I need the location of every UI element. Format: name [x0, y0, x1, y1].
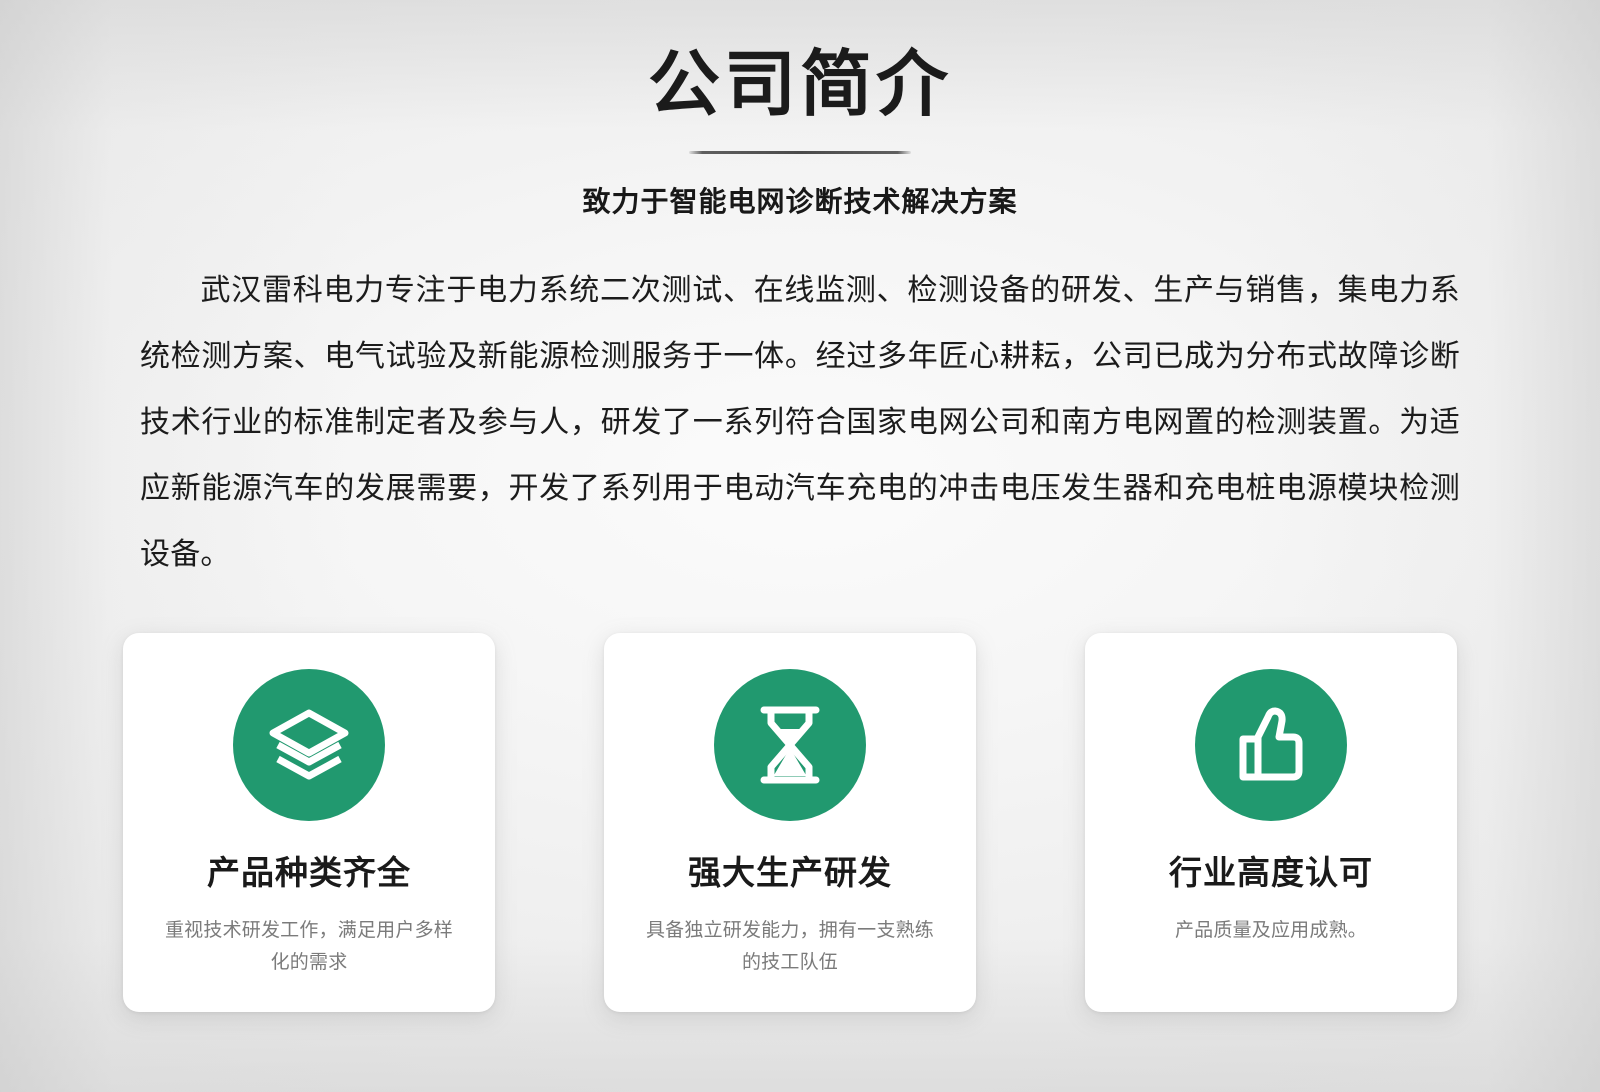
- company-intro-text: 武汉雷科电力专注于电力系统二次测试、在线监测、检测设备的研发、生产与销售，集电力…: [140, 274, 1460, 571]
- feature-card-description: 具备独立研发能力，拥有一支熟练的技工队伍: [640, 915, 940, 979]
- title-divider: [689, 151, 911, 154]
- thumbs-up-icon: [1195, 669, 1347, 821]
- company-intro-paragraph: 武汉雷科电力专注于电力系统二次测试、在线监测、检测设备的研发、生产与销售，集电力…: [140, 258, 1460, 588]
- layers-icon: [233, 669, 385, 821]
- page-title: 公司简介: [0, 44, 1600, 127]
- feature-card[interactable]: 行业高度认可 产品质量及应用成熟。: [1085, 633, 1457, 1012]
- feature-card-list: 产品种类齐全 重视技术研发工作，满足用户多样化的需求: [123, 633, 1457, 1012]
- feature-card-title: 强大生产研发: [688, 853, 892, 893]
- page-subtitle: 致力于智能电网诊断技术解决方案: [0, 180, 1600, 220]
- page-root: 公司简介 致力于智能电网诊断技术解决方案 武汉雷科电力专注于电力系统二次测试、在…: [0, 0, 1600, 1092]
- feature-card[interactable]: 强大生产研发 具备独立研发能力，拥有一支熟练的技工队伍: [604, 633, 976, 1012]
- page-header: 公司简介 致力于智能电网诊断技术解决方案: [0, 0, 1600, 220]
- feature-card-description: 产品质量及应用成熟。: [1121, 915, 1421, 947]
- hourglass-icon: [714, 669, 866, 821]
- feature-card[interactable]: 产品种类齐全 重视技术研发工作，满足用户多样化的需求: [123, 633, 495, 1012]
- feature-card-title: 产品种类齐全: [207, 853, 411, 893]
- feature-card-title: 行业高度认可: [1169, 853, 1373, 893]
- feature-card-description: 重视技术研发工作，满足用户多样化的需求: [159, 915, 459, 979]
